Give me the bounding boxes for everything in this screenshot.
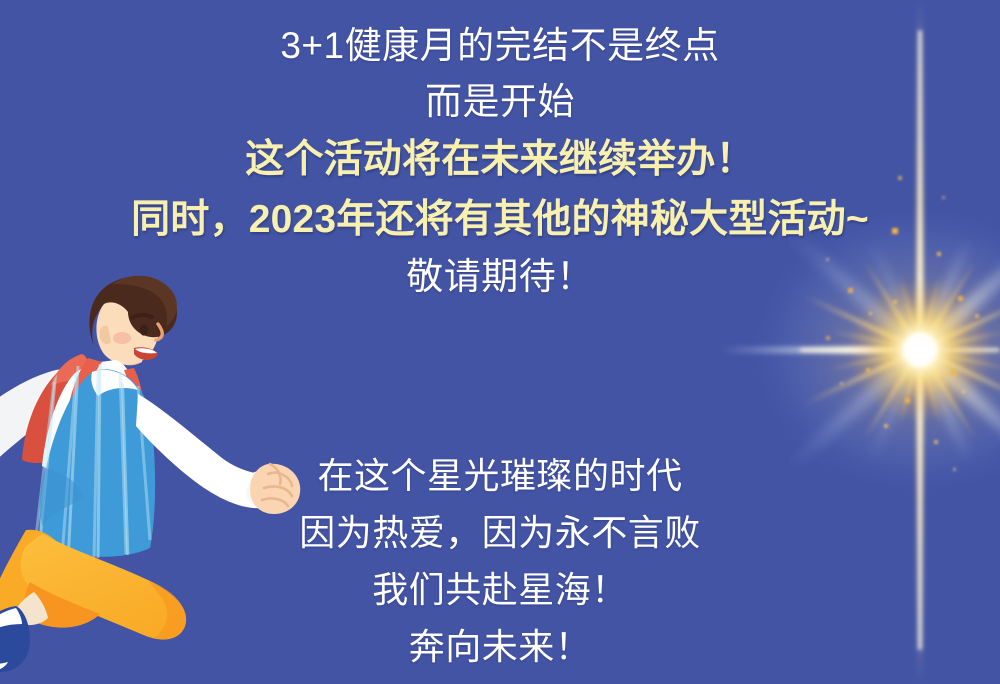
runner-front-leg <box>12 534 186 640</box>
headline-line-4: 同时，2023年还将有其他的神秘大型活动~ <box>0 190 1000 249</box>
starburst-vertical-ray <box>916 0 924 684</box>
starburst-sparkles <box>826 176 979 471</box>
poster-canvas: 3+1健康月的完结不是终点 而是开始 这个活动将在未来继续举办！ 同时，2023… <box>0 0 1000 684</box>
runner-rear-arm <box>0 369 77 493</box>
headline-line-5: 敬请期待！ <box>0 249 1000 305</box>
closing-text-block: 在这个星光璀璨的时代 因为热爱，因为永不言败 我们共赴星海！ 奔向未来！ <box>0 448 1000 676</box>
closing-line-3: 我们共赴星海！ <box>0 562 1000 619</box>
runner-shoe <box>0 606 30 672</box>
closing-line-1: 在这个星光璀璨的时代 <box>0 448 1000 505</box>
closing-line-2: 因为热爱，因为永不言败 <box>0 505 1000 562</box>
runner-rear-leg <box>0 530 66 650</box>
closing-line-4: 奔向未来！ <box>0 619 1000 676</box>
runner-vest <box>34 364 155 562</box>
runner-fist <box>250 464 300 514</box>
starburst-halo <box>745 200 1000 500</box>
headline-text-block: 3+1健康月的完结不是终点 而是开始 这个活动将在未来继续举办！ 同时，2023… <box>0 18 1000 305</box>
runner-front-arm <box>136 394 300 514</box>
runner-backpack-strap <box>64 358 146 449</box>
headline-line-1: 3+1健康月的完结不是终点 <box>0 18 1000 74</box>
starburst-core <box>848 278 992 422</box>
starburst-horizontal-ray <box>720 346 1000 354</box>
runner-backpack <box>22 354 89 463</box>
starburst-gold-rays <box>803 260 1000 440</box>
starburst-flare <box>0 0 1000 684</box>
runner-head <box>89 276 177 366</box>
running-student-illustration <box>0 262 312 684</box>
headline-line-2: 而是开始 <box>0 74 1000 130</box>
runner-shirt <box>42 360 141 477</box>
headline-line-3: 这个活动将在未来继续举办！ <box>0 130 1000 189</box>
starburst-diagonal-spokes <box>785 228 1000 473</box>
